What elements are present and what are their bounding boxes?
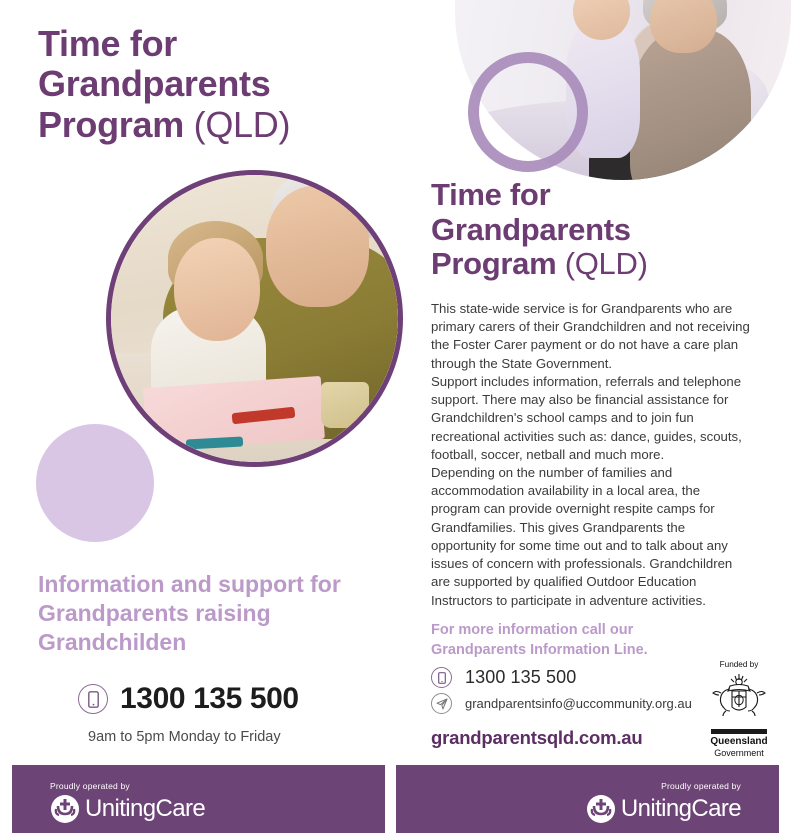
email-block[interactable]: grandparentsinfo@uccommunity.org.au bbox=[431, 693, 692, 714]
photo-toddler-head bbox=[174, 238, 260, 341]
paragraph-text: This state-wide service is for Grandpare… bbox=[431, 300, 751, 373]
page-title-left: Time for Grandparents Program (QLD) bbox=[38, 24, 378, 145]
unitingcare-logo[interactable]: UnitingCare bbox=[586, 794, 741, 824]
phone-number-right: 1300 135 500 bbox=[465, 667, 576, 688]
photo-grandfather-head bbox=[266, 186, 369, 307]
paper-plane-icon bbox=[431, 693, 452, 714]
page-title-left-suffix: (QLD) bbox=[194, 104, 291, 145]
decorative-ring bbox=[468, 52, 588, 172]
funder-block: Funded by Queensland Government bbox=[700, 660, 778, 758]
body-paragraph-1: This state-wide service is for Grandpare… bbox=[431, 300, 751, 384]
funder-name-line2: Government bbox=[700, 748, 778, 758]
cta-heading: For more information call our Grandparen… bbox=[431, 621, 731, 660]
unitingcare-logo[interactable]: UnitingCare bbox=[50, 794, 205, 824]
mobile-phone-icon bbox=[431, 667, 452, 688]
footer-logo-word: UnitingCare bbox=[85, 795, 205, 823]
queensland-coat-of-arms-icon bbox=[708, 671, 770, 723]
tagline-left: Information and support for Grandparents… bbox=[38, 570, 368, 656]
phone-number-left: 1300 135 500 bbox=[120, 682, 299, 716]
email-address: grandparentsinfo@uccommunity.org.au bbox=[465, 696, 692, 711]
phone-block-right[interactable]: 1300 135 500 bbox=[431, 667, 576, 688]
footer-right: Proudly operated by UnitingCare bbox=[396, 765, 779, 833]
website-url[interactable]: grandparentsqld.com.au bbox=[431, 727, 642, 749]
body-paragraph-3: Depending on the number of families and … bbox=[431, 464, 751, 621]
footer-kicker: Proudly operated by bbox=[661, 781, 741, 791]
funder-kicker: Funded by bbox=[700, 660, 778, 669]
unitingcare-logo-icon bbox=[50, 794, 80, 824]
paragraph-text: Support includes information, referrals … bbox=[431, 373, 751, 464]
footer-left: Proudly operated by UnitingCare bbox=[12, 765, 385, 833]
flyer-page: Time for Grandparents Program (QLD) Time… bbox=[0, 0, 791, 833]
unitingcare-logo-icon bbox=[586, 794, 616, 824]
footer-kicker: Proudly operated by bbox=[50, 781, 130, 791]
phone-block-left[interactable]: 1300 135 500 bbox=[78, 682, 299, 716]
funder-name-line1: Queensland bbox=[700, 736, 778, 748]
page-title-right-suffix: (QLD) bbox=[565, 246, 648, 281]
page-title-right: Time for Grandparents Program (QLD) bbox=[431, 178, 761, 282]
opening-hours: 9am to 5pm Monday to Friday bbox=[88, 729, 281, 745]
photo-grandfather-toddler bbox=[106, 170, 403, 467]
paragraph-text: Depending on the number of families and … bbox=[431, 464, 751, 610]
crest-banner bbox=[711, 729, 767, 734]
mobile-phone-icon bbox=[78, 684, 108, 714]
photo-cup bbox=[321, 382, 370, 428]
footer-logo-word: UnitingCare bbox=[621, 795, 741, 823]
body-paragraph-2: Support includes information, referrals … bbox=[431, 373, 751, 475]
